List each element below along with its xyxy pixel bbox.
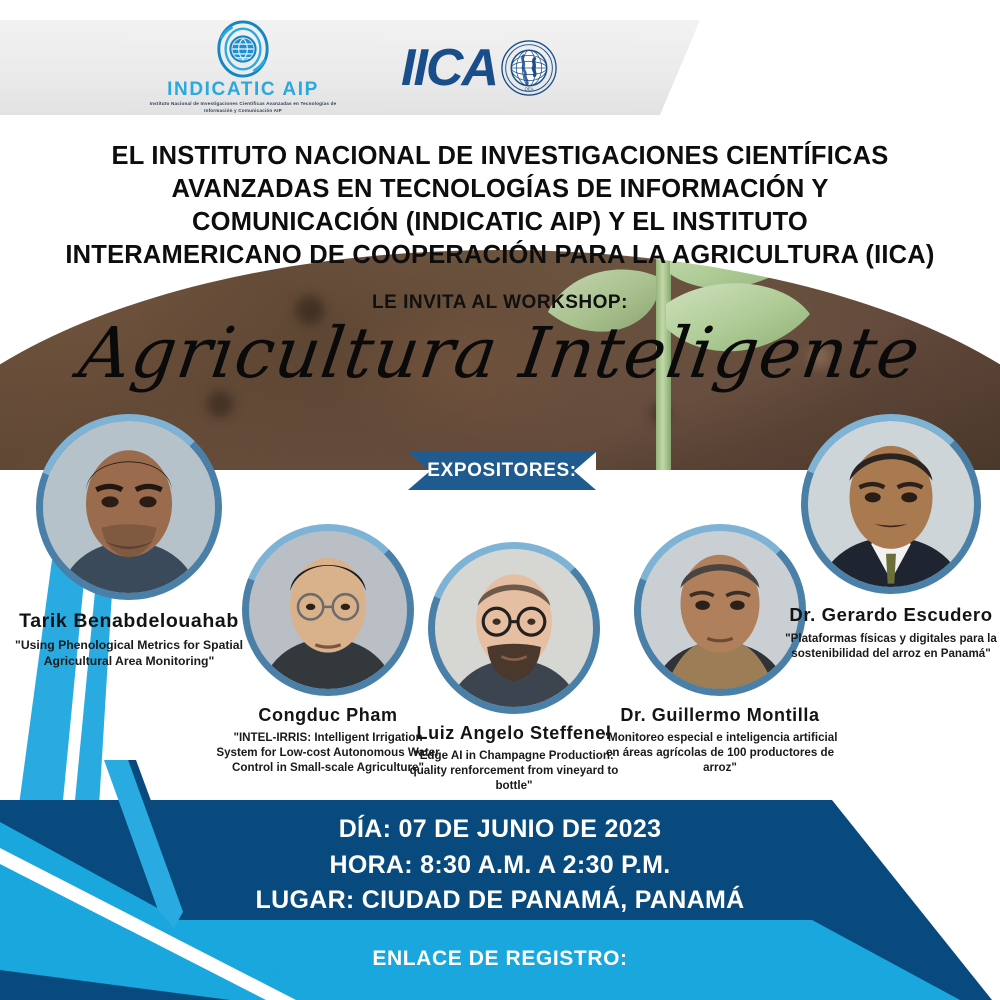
iica-logo: IICA OEA	[401, 40, 557, 96]
headline-line-4: INTERAMERICANO DE COOPERACIÓN PARA LA AG…	[50, 239, 950, 272]
iica-globe-seal-icon: OEA	[501, 40, 557, 96]
event-time: HORA: 8:30 A.M. A 2:30 P.M.	[0, 848, 1000, 884]
headline-line-3: COMUNICACIÓN (INDICATIC AIP) Y EL INSTIT…	[50, 206, 950, 239]
indicatic-subtitle: Instituto Nacional de Investigaciones Ci…	[143, 101, 343, 114]
avatar	[36, 414, 222, 600]
speaker-topic: "Plataformas físicas y digitales para la…	[780, 631, 1000, 661]
event-poster: INDICATIC AIP Instituto Nacional de Inve…	[0, 0, 1000, 1000]
event-title: Agricultura Inteligente	[0, 312, 1000, 394]
footer-details: DÍA: 07 DE JUNIO DE 2023 HORA: 8:30 A.M.…	[0, 812, 1000, 1000]
speaker-name: Luiz Angelo Steffenel	[398, 723, 630, 744]
indicatic-logo: INDICATIC AIP Instituto Nacional de Inve…	[143, 20, 343, 114]
speaker-topic: "Edge AI in Champagne Production: qualit…	[398, 748, 630, 793]
invitation-line: LE INVITA AL WORKSHOP:	[0, 292, 1000, 314]
iica-wordmark: IICA	[401, 42, 497, 94]
avatar	[801, 414, 981, 594]
event-day: DÍA: 07 DE JUNIO DE 2023	[0, 812, 1000, 848]
speaker-name: Dr. Gerardo Escudero	[780, 604, 1000, 626]
speaker-topic: "Monitoreo especial e inteligencia artif…	[600, 730, 840, 775]
indicatic-wordmark: INDICATIC AIP	[167, 80, 319, 99]
expositores-label: EXPOSITORES:	[408, 452, 596, 490]
speaker-card: Dr. Gerardo Escudero "Plataformas física…	[780, 414, 1000, 661]
headline-line-1: EL INSTITUTO NACIONAL DE INVESTIGACIONES…	[50, 140, 950, 173]
iica-seal-sub: OEA	[525, 86, 534, 91]
avatar	[242, 524, 414, 696]
logo-row: INDICATIC AIP Instituto Nacional de Inve…	[0, 20, 700, 115]
avatar	[428, 542, 600, 714]
headline-line-2: AVANZADAS EN TECNOLOGÍAS DE INFORMACIÓN …	[50, 173, 950, 206]
registration-label: ENLACE DE REGISTRO:	[0, 947, 1000, 971]
event-place: LUGAR: CIUDAD DE PANAMÁ, PANAMÁ	[0, 883, 1000, 919]
headline: EL INSTITUTO NACIONAL DE INVESTIGACIONES…	[50, 140, 950, 273]
speaker-name: Dr. Guillermo Montilla	[600, 705, 840, 726]
speaker-card: Luiz Angelo Steffenel "Edge AI in Champa…	[398, 542, 630, 793]
fingerprint-globe-icon	[214, 20, 272, 78]
